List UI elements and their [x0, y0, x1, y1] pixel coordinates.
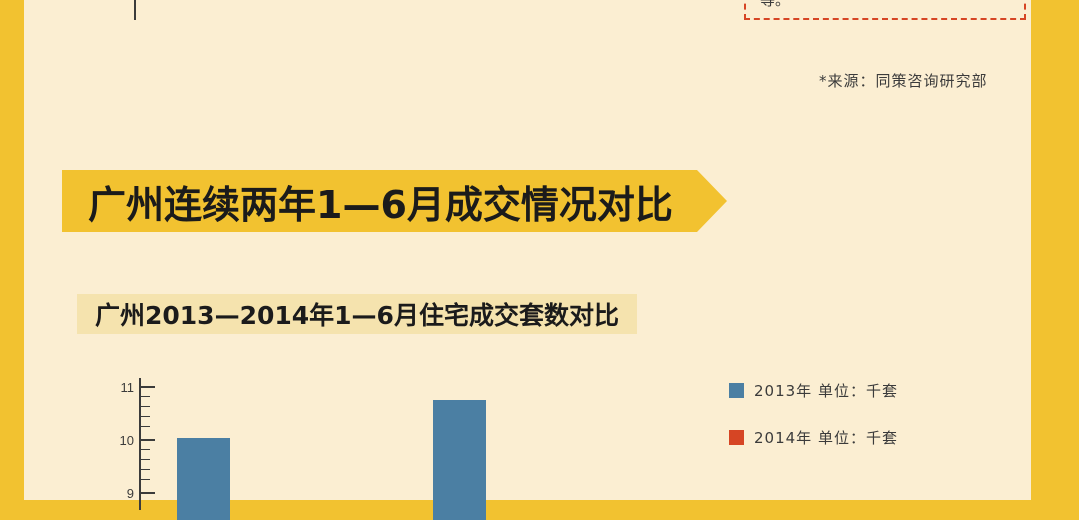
bottom-chart-y-axis	[139, 378, 141, 510]
legend-label-2013: 2013年 单位：千套	[754, 380, 898, 401]
legend-item: 2014年 单位：千套	[729, 427, 898, 448]
banner-arrow	[697, 170, 727, 232]
y-tick-label: 9	[104, 486, 134, 501]
guangzhou-units-chart: 11 10 9	[84, 370, 644, 510]
chart-subtitle-text: 广州2013—2014年1—6月住宅成交套数对比	[95, 296, 619, 332]
chart-legend: 2013年 单位：千套 2014年 单位：千套	[729, 380, 898, 474]
y-tick-label: 11	[104, 380, 134, 395]
bar-2013	[177, 438, 230, 520]
banner-title: 广州连续两年1—6月成交情况对比	[88, 174, 673, 229]
section-banner: 广州连续两年1—6月成交情况对比	[62, 170, 697, 232]
infographic-sheet: 0	[24, 0, 1031, 500]
y-tick-label: 10	[104, 433, 134, 448]
banner-body: 广州连续两年1—6月成交情况对比	[62, 170, 697, 232]
legend-swatch-2014	[729, 430, 744, 445]
top-city-chart: 0	[104, 0, 664, 60]
note-box: 等。	[744, 0, 1026, 20]
top-chart-y-axis	[134, 0, 136, 20]
chart-subtitle: 广州2013—2014年1—6月住宅成交套数对比	[77, 294, 637, 334]
legend-label-2014: 2014年 单位：千套	[754, 427, 898, 448]
legend-swatch-2013	[729, 383, 744, 398]
page-background: 0	[0, 0, 1079, 500]
bar-2014	[433, 400, 486, 520]
note-text: 等。	[760, 0, 790, 10]
source-text: *来源：同策咨询研究部	[819, 70, 988, 91]
legend-item: 2013年 单位：千套	[729, 380, 898, 401]
